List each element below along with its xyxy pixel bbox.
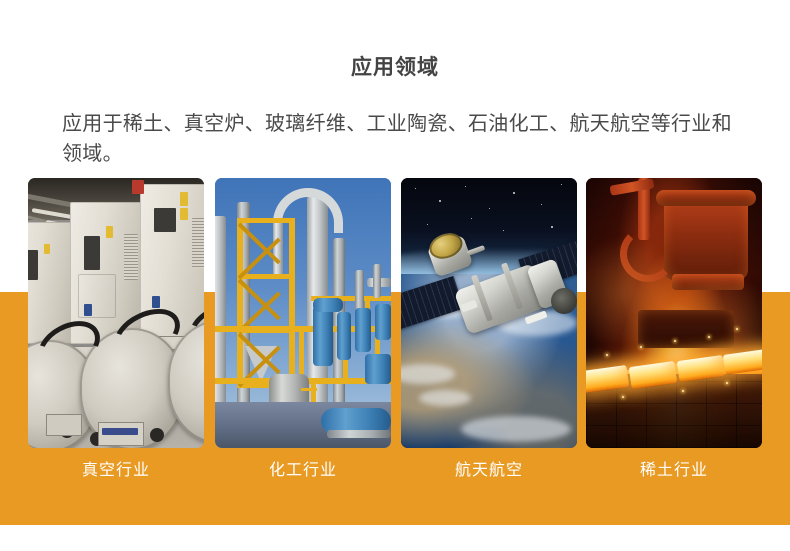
vacuum-furnace-photo xyxy=(28,178,204,448)
application-fields-section: 应用领域 应用于稀土、真空炉、玻璃纤维、工业陶瓷、石油化工、航天航空等行业和领域… xyxy=(0,0,790,551)
gallery-caption-aerospace: 航天航空 xyxy=(401,460,577,482)
gallery-caption-vacuum: 真空行业 xyxy=(28,460,204,482)
satellite-in-orbit-photo xyxy=(401,178,577,448)
page-title: 应用领域 xyxy=(0,54,790,82)
gallery-image-vacuum[interactable] xyxy=(28,178,204,448)
gallery-caption-rare-earth: 稀土行业 xyxy=(586,460,762,482)
gallery-image-chemical[interactable] xyxy=(215,178,391,448)
molten-metal-smelting-photo xyxy=(586,178,762,448)
chemical-plant-photo xyxy=(215,178,391,448)
gallery-image-aerospace[interactable] xyxy=(401,178,577,448)
gallery-image-rare-earth[interactable] xyxy=(586,178,762,448)
gallery-caption-chemical: 化工行业 xyxy=(215,460,391,482)
section-description: 应用于稀土、真空炉、玻璃纤维、工业陶瓷、石油化工、航天航空等行业和领域。 xyxy=(62,109,732,169)
application-gallery xyxy=(28,178,762,448)
